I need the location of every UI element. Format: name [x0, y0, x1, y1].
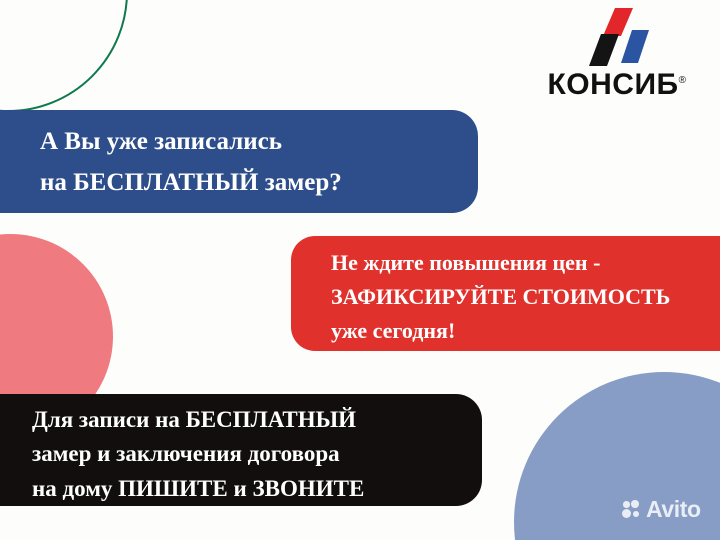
headline-blue-line-1: А Вы уже записались	[40, 125, 478, 158]
brand-wordmark: КОНСИБ®	[532, 68, 702, 102]
message-red-line-3: уже сегодня!	[331, 316, 720, 345]
promo-poster: КОНСИБ® А Вы уже записались на БЕСПЛАТНЫ…	[0, 0, 720, 540]
message-black-line-3: на дому ПИШИТЕ и ЗВОНИТЕ	[32, 474, 482, 504]
registered-trademark-symbol: ®	[679, 75, 687, 86]
message-black-line-1: Для записи на БЕСПЛАТНЫЙ	[32, 405, 482, 435]
headline-blue-box: А Вы уже записались на БЕСПЛАТНЫЙ замер?	[0, 110, 478, 213]
green-ring-decoration	[0, 0, 128, 112]
blue-circle-decoration	[514, 372, 720, 540]
message-red-box: Не ждите повышения цен - ЗАФИКСИРУЙТЕ СТ…	[291, 236, 720, 351]
message-red-line-1: Не ждите повышения цен -	[331, 248, 720, 277]
brand-wordmark-text: КОНСИБ	[548, 68, 679, 101]
brand-logo: КОНСИБ®	[532, 8, 702, 108]
message-red-line-2: ЗАФИКСИРУЙТЕ СТОИМОСТЬ	[331, 282, 720, 311]
message-black-box: Для записи на БЕСПЛАТНЫЙ замер и заключе…	[0, 394, 482, 506]
headline-blue-line-2: на БЕСПЛАТНЫЙ замер?	[40, 166, 478, 199]
message-black-line-2: замер и заключения договора	[32, 439, 482, 469]
konsib-logo-mark-icon	[577, 8, 657, 70]
